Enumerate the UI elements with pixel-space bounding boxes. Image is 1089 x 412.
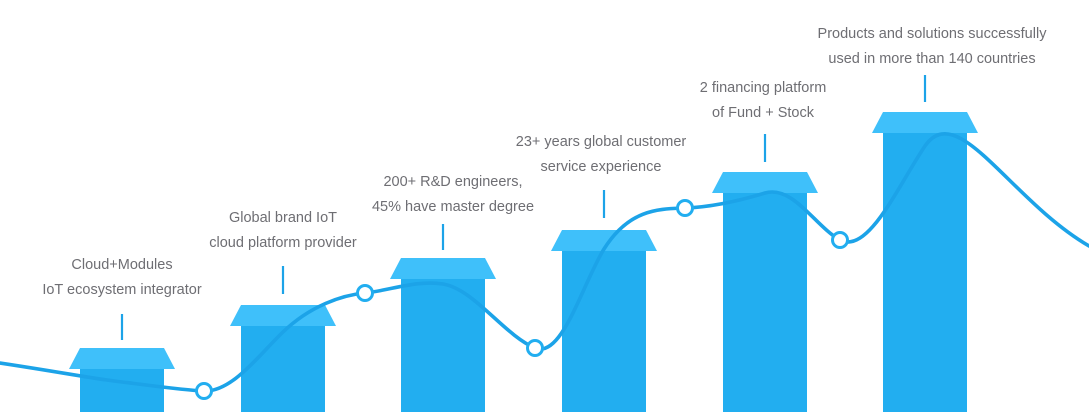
line-marker-4[interactable]	[678, 201, 693, 216]
bar-6-top-face	[872, 112, 978, 133]
milestone-bar-infographic: Cloud+Modules IoT ecosystem integrator G…	[0, 0, 1089, 412]
bar-1-top-face	[69, 348, 175, 369]
bar-5-body	[723, 193, 807, 412]
bar-4-body	[562, 251, 646, 412]
line-marker-2[interactable]	[358, 286, 373, 301]
bar-6-body	[883, 133, 967, 412]
bar-6[interactable]	[872, 112, 978, 412]
line-marker-1[interactable]	[197, 384, 212, 399]
bar-1-body	[80, 369, 164, 412]
bar-3[interactable]	[390, 258, 496, 412]
bar-5-top-face	[712, 172, 818, 193]
line-marker-3[interactable]	[528, 341, 543, 356]
bar-group	[69, 112, 978, 412]
line-marker-5[interactable]	[833, 233, 848, 248]
bar-2[interactable]	[230, 305, 336, 412]
chart-canvas	[0, 0, 1089, 412]
bar-2-top-face	[230, 305, 336, 326]
bar-1[interactable]	[69, 348, 175, 412]
bar-3-top-face	[390, 258, 496, 279]
bar-2-body	[241, 326, 325, 412]
